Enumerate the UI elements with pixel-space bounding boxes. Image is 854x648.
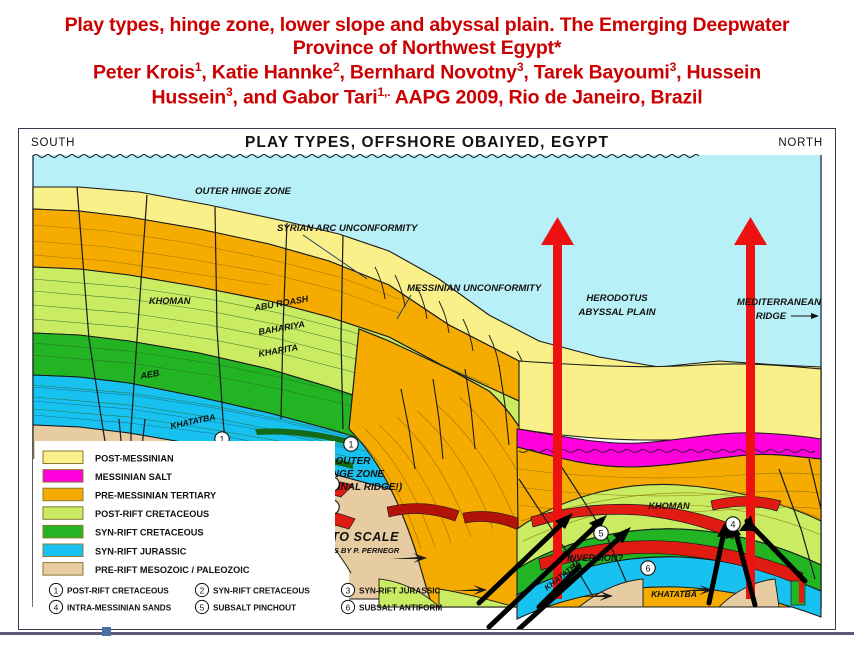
- author-bayoumi: , Tarek Bayoumi: [523, 62, 669, 84]
- author-line-1: Peter Krois1, Katie Hannke2, Bernhard No…: [0, 60, 854, 85]
- legend-swatch: [43, 544, 83, 557]
- play-marker-label: 5: [598, 528, 603, 538]
- play-marker-1: 1: [344, 437, 358, 451]
- play-marker-6: 6: [641, 561, 655, 575]
- author-tari: , and Gabor Tari: [233, 86, 378, 108]
- annotation-herodotus-1: HERODOTUS: [586, 293, 648, 304]
- slide-bottom-marker: [102, 627, 111, 636]
- legend-label: MESSINIAN SALT: [95, 472, 172, 482]
- figure-heading: PLAY TYPES, OFFSHORE OBAIYED, EGYPT: [245, 134, 609, 151]
- legend-swatch: [43, 507, 83, 520]
- annotation-outer-hinge-marginal-1: OUTER: [336, 456, 372, 467]
- legend-play-number: 4: [54, 602, 59, 612]
- legend-swatch: [43, 470, 83, 483]
- legend-swatch: [43, 563, 83, 576]
- direction-north: NORTH: [778, 137, 823, 149]
- legend-panel: [35, 441, 335, 607]
- annotation-herodotus-2: ABYSSAL PLAIN: [577, 307, 656, 318]
- legend-swatch: [43, 488, 83, 501]
- legend-swatch: [43, 451, 83, 464]
- author-line-2: Hussein3, and Gabor Tari1,. AAPG 2009, R…: [0, 85, 854, 110]
- legend-play-number: 2: [200, 585, 205, 595]
- legend-item: POST-RIFT CRETACEOUS: [43, 507, 209, 520]
- cross-section-figure: SOUTH PLAY TYPES, OFFSHORE OBAIYED, EGYP…: [18, 128, 836, 630]
- legend-label: SYN-RIFT JURASSIC: [95, 546, 187, 556]
- legend-label: PRE-RIFT MESOZOIC / PALEOZOIC: [95, 565, 250, 575]
- author-hussein: Hussein: [152, 86, 226, 108]
- slide-bottom-rule: [0, 632, 854, 635]
- play-marker-5: 5: [594, 526, 608, 540]
- play-marker-label: 6: [645, 563, 650, 573]
- legend-play-number: 5: [200, 602, 205, 612]
- legend-item: MESSINIAN SALT: [43, 470, 172, 483]
- legend-play-label: SYN-RIFT JURASSIC: [359, 587, 441, 596]
- author-novotny: , Bernhard Novotny: [339, 62, 516, 84]
- legend-label: PRE-MESSINIAN TERTIARY: [95, 491, 216, 501]
- formation-khatatba-right: KHATATBA: [651, 589, 697, 599]
- legend-item: SYN-RIFT CRETACEOUS: [43, 525, 204, 538]
- conference-info: AAPG 2009, Rio de Janeiro, Brazil: [390, 86, 702, 108]
- title-line-1: Play types, hinge zone, lower slope and …: [0, 14, 854, 37]
- legend-swatch: [43, 525, 83, 538]
- legend-label: POST-MESSINIAN: [95, 453, 174, 463]
- legend-item: PRE-MESSINIAN TERTIARY: [43, 488, 216, 501]
- formation-khoman-right: KHOMAN: [648, 501, 690, 511]
- legend-label: POST-RIFT CRETACEOUS: [95, 509, 209, 519]
- direction-south: SOUTH: [31, 137, 75, 149]
- legend-item: SYN-RIFT JURASSIC: [43, 544, 187, 557]
- legend-play-label: POST-RIFT CRETACEOUS: [67, 587, 169, 596]
- author-krois: Peter Krois: [93, 62, 195, 84]
- legend-play-number: 6: [346, 602, 351, 612]
- annotation-syrian-arc: SYRIAN ARC UNCONFORMITY: [277, 223, 419, 234]
- legend-play-label: INTRA-MESSINIAN SANDS: [67, 604, 172, 613]
- author-tari-affil: 1,.: [377, 85, 390, 99]
- legend-item: PRE-RIFT MESOZOIC / PALEOZOIC: [43, 563, 250, 576]
- legend-item: POST-MESSINIAN: [43, 451, 174, 464]
- legend-play-number: 3: [346, 585, 351, 595]
- author-hussein-partial: , Hussein: [676, 62, 761, 84]
- annotation-mediterranean-2: RIDGE: [756, 311, 787, 322]
- play-marker-4: 4: [726, 517, 740, 531]
- presentation-title: Play types, hinge zone, lower slope and …: [0, 0, 854, 128]
- author-hannke: , Katie Hannke: [201, 62, 333, 84]
- legend-label: SYN-RIFT CRETACEOUS: [95, 528, 204, 538]
- annotation-messinian-unconformity: MESSINIAN UNCONFORMITY: [407, 283, 543, 294]
- annotation-mediterranean-1: MEDITERRANEAN: [737, 297, 822, 308]
- annotation-outer-hinge-zone: OUTER HINGE ZONE: [195, 186, 292, 197]
- legend-play-label: SYN-RIFT CRETACEOUS: [213, 587, 310, 596]
- legend-play-label: SUBSALT PINCHOUT: [213, 604, 296, 613]
- legend-play-number: 1: [54, 585, 59, 595]
- title-line-2: Province of Northwest Egypt*: [0, 37, 854, 60]
- legend-play-label: SUBSALT ANTIFORM: [359, 604, 442, 613]
- formation-khoman-left: KHOMAN: [149, 296, 191, 306]
- far-right-red-sliver: [799, 581, 804, 603]
- play-marker-label: 1: [348, 439, 353, 449]
- post-messinian-basin: [519, 361, 821, 443]
- play-marker-label: 4: [730, 519, 735, 529]
